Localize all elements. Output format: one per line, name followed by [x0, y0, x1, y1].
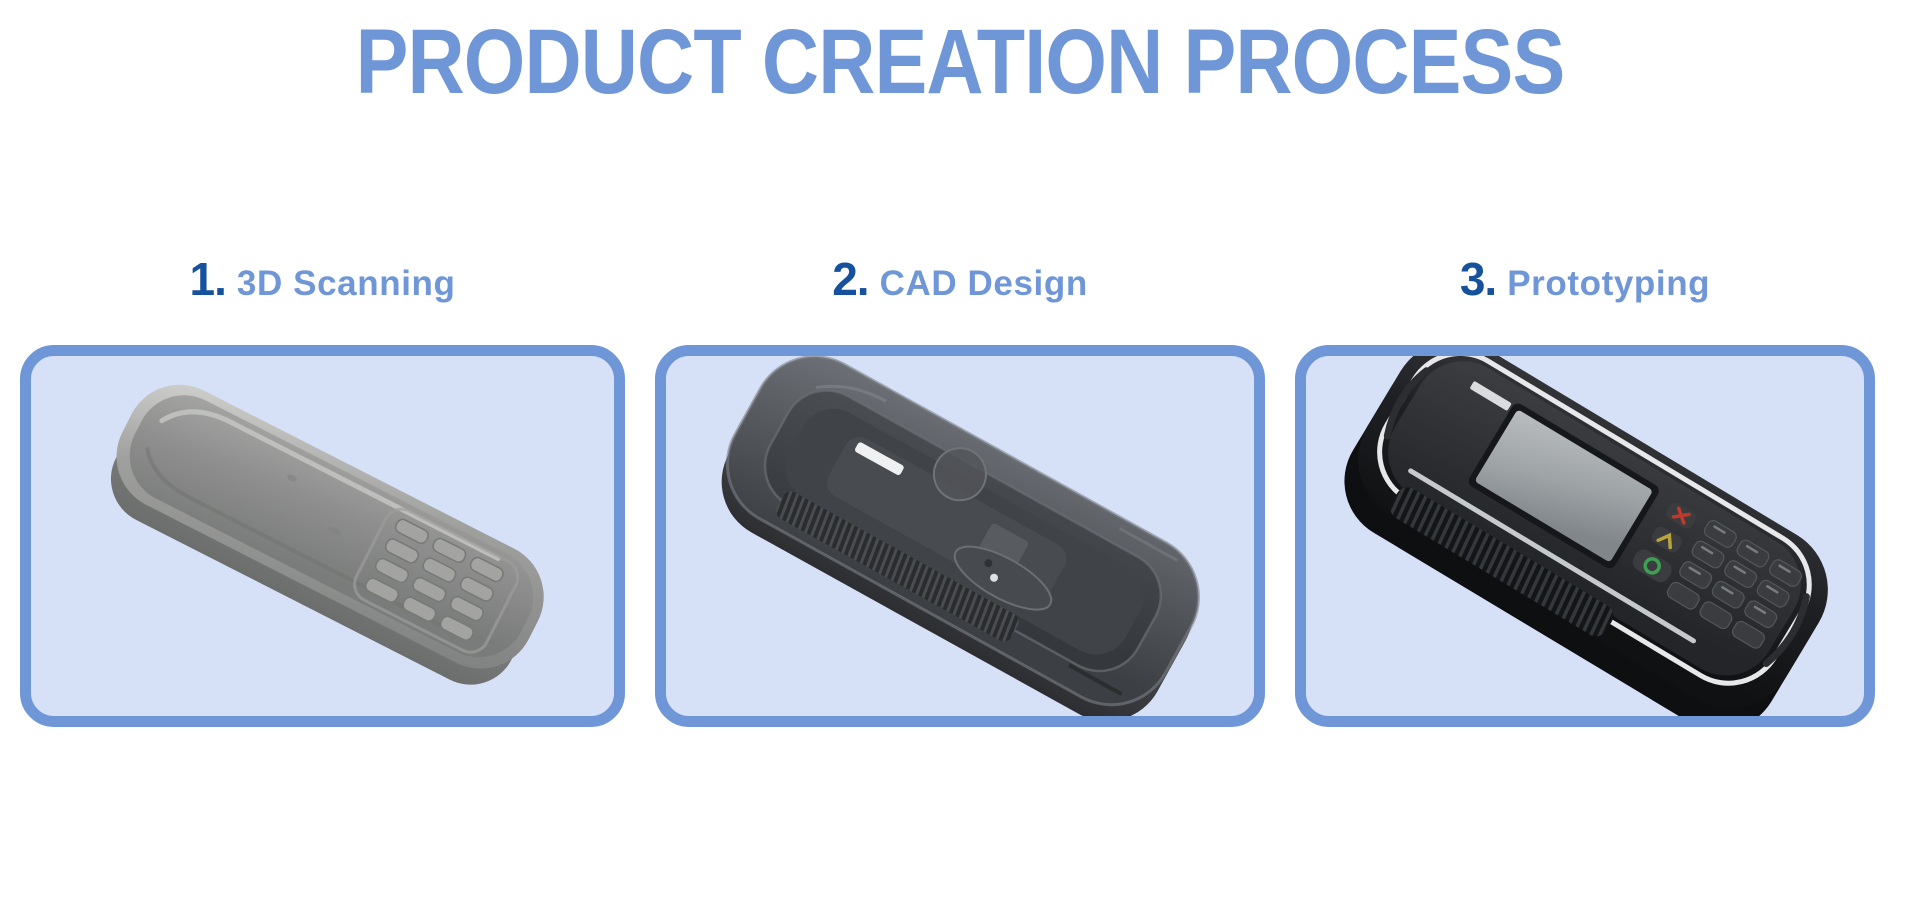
step-3-card	[1295, 345, 1875, 727]
cad-model-housing-image	[666, 356, 1254, 716]
process-step-3: 3. Prototyping	[1295, 252, 1875, 727]
step-1-label: 1. 3D Scanning	[20, 252, 625, 314]
step-1-title: 3D Scanning	[237, 264, 456, 304]
step-3-title: Prototyping	[1507, 264, 1710, 304]
3d-scan-mesh-handset-image	[31, 356, 614, 716]
step-2-title: CAD Design	[880, 264, 1088, 304]
process-step-1: 1. 3D Scanning	[20, 252, 625, 727]
step-3-number: 3.	[1460, 252, 1496, 306]
step-1-card	[20, 345, 625, 727]
step-3-label: 3. Prototyping	[1295, 252, 1875, 314]
prototype-payment-terminal-image	[1306, 356, 1864, 716]
process-steps: 1. 3D Scanning	[0, 0, 1920, 903]
infographic-canvas: PRODUCT CREATION PROCESS 1. 3D Scanning	[0, 0, 1920, 903]
step-2-card	[655, 345, 1265, 727]
step-2-number: 2.	[832, 252, 868, 306]
step-1-number: 1.	[190, 252, 226, 306]
step-2-label: 2. CAD Design	[655, 252, 1265, 314]
process-step-2: 2. CAD Design	[655, 252, 1265, 727]
